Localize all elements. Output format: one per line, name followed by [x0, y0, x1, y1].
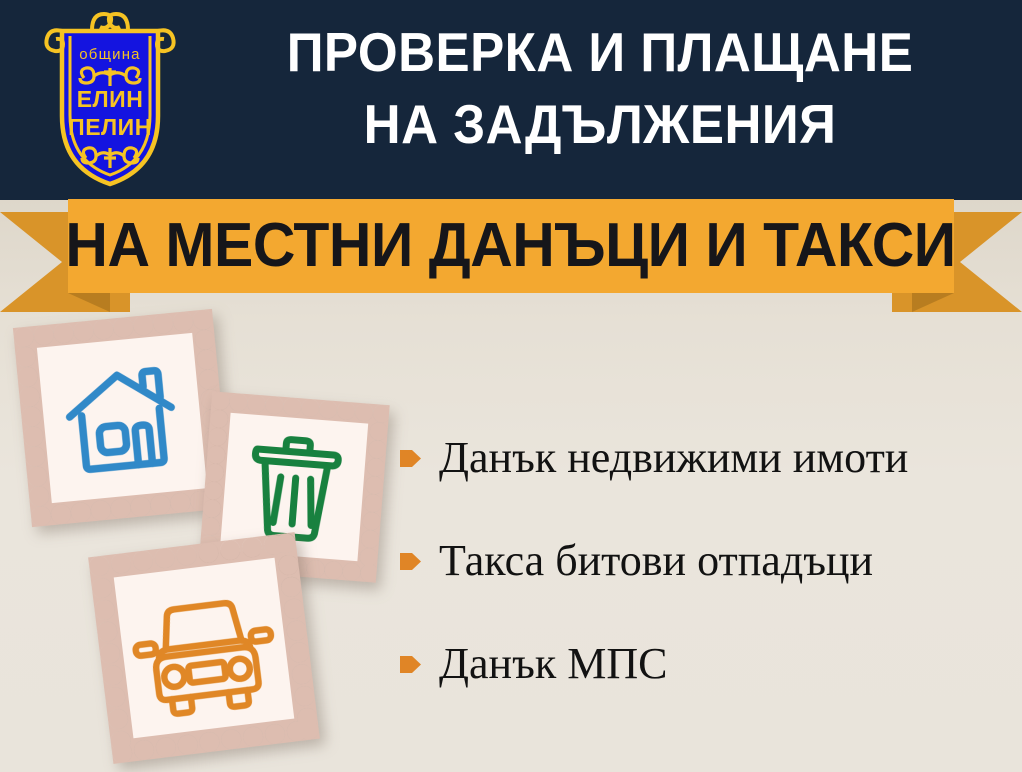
poster-canvas: община ЕЛИН ПЕЛИН ПРОВЕРКА И ПЛАЩАНЕ НА …	[0, 0, 1022, 772]
arrow-right-pentagon-icon	[400, 653, 421, 676]
ribbon-main-panel: НА МЕСТНИ ДАНЪЦИ И ТАКСИ	[68, 199, 954, 293]
list-item-label: Данък недвижими имоти	[439, 433, 908, 483]
svg-text:ЕЛИН: ЕЛИН	[77, 86, 144, 112]
list-item[interactable]: Данък недвижими имоти	[400, 424, 1015, 492]
page-title: ПРОВЕРКА И ПЛАЩАНЕ НА ЗАДЪЛЖЕНИЯ	[219, 16, 982, 160]
arrow-right-pentagon-icon	[400, 447, 421, 470]
svg-text:ПЕЛИН: ПЕЛИН	[68, 114, 152, 140]
coat-of-arms-shield-icon: община ЕЛИН ПЕЛИН	[36, 8, 184, 192]
ribbon-subtitle: НА МЕСТНИ ДАНЪЦИ И ТАКСИ	[66, 215, 956, 277]
svg-text:община: община	[79, 46, 140, 63]
list-item[interactable]: Данък МПС	[400, 630, 1015, 698]
list-item[interactable]: Такса битови отпадъци	[400, 527, 1015, 595]
stamp-card-car	[88, 532, 320, 764]
list-item-label: Такса битови отпадъци	[439, 536, 873, 586]
ribbon-banner: НА МЕСТНИ ДАНЪЦИ И ТАКСИ	[0, 199, 1022, 311]
arrow-right-pentagon-icon	[400, 550, 421, 573]
list-item-label: Данък МПС	[439, 639, 667, 689]
tax-type-list: Данък недвижими имоти Такса битови отпад…	[400, 424, 1015, 698]
stamp-card-house	[13, 309, 231, 527]
